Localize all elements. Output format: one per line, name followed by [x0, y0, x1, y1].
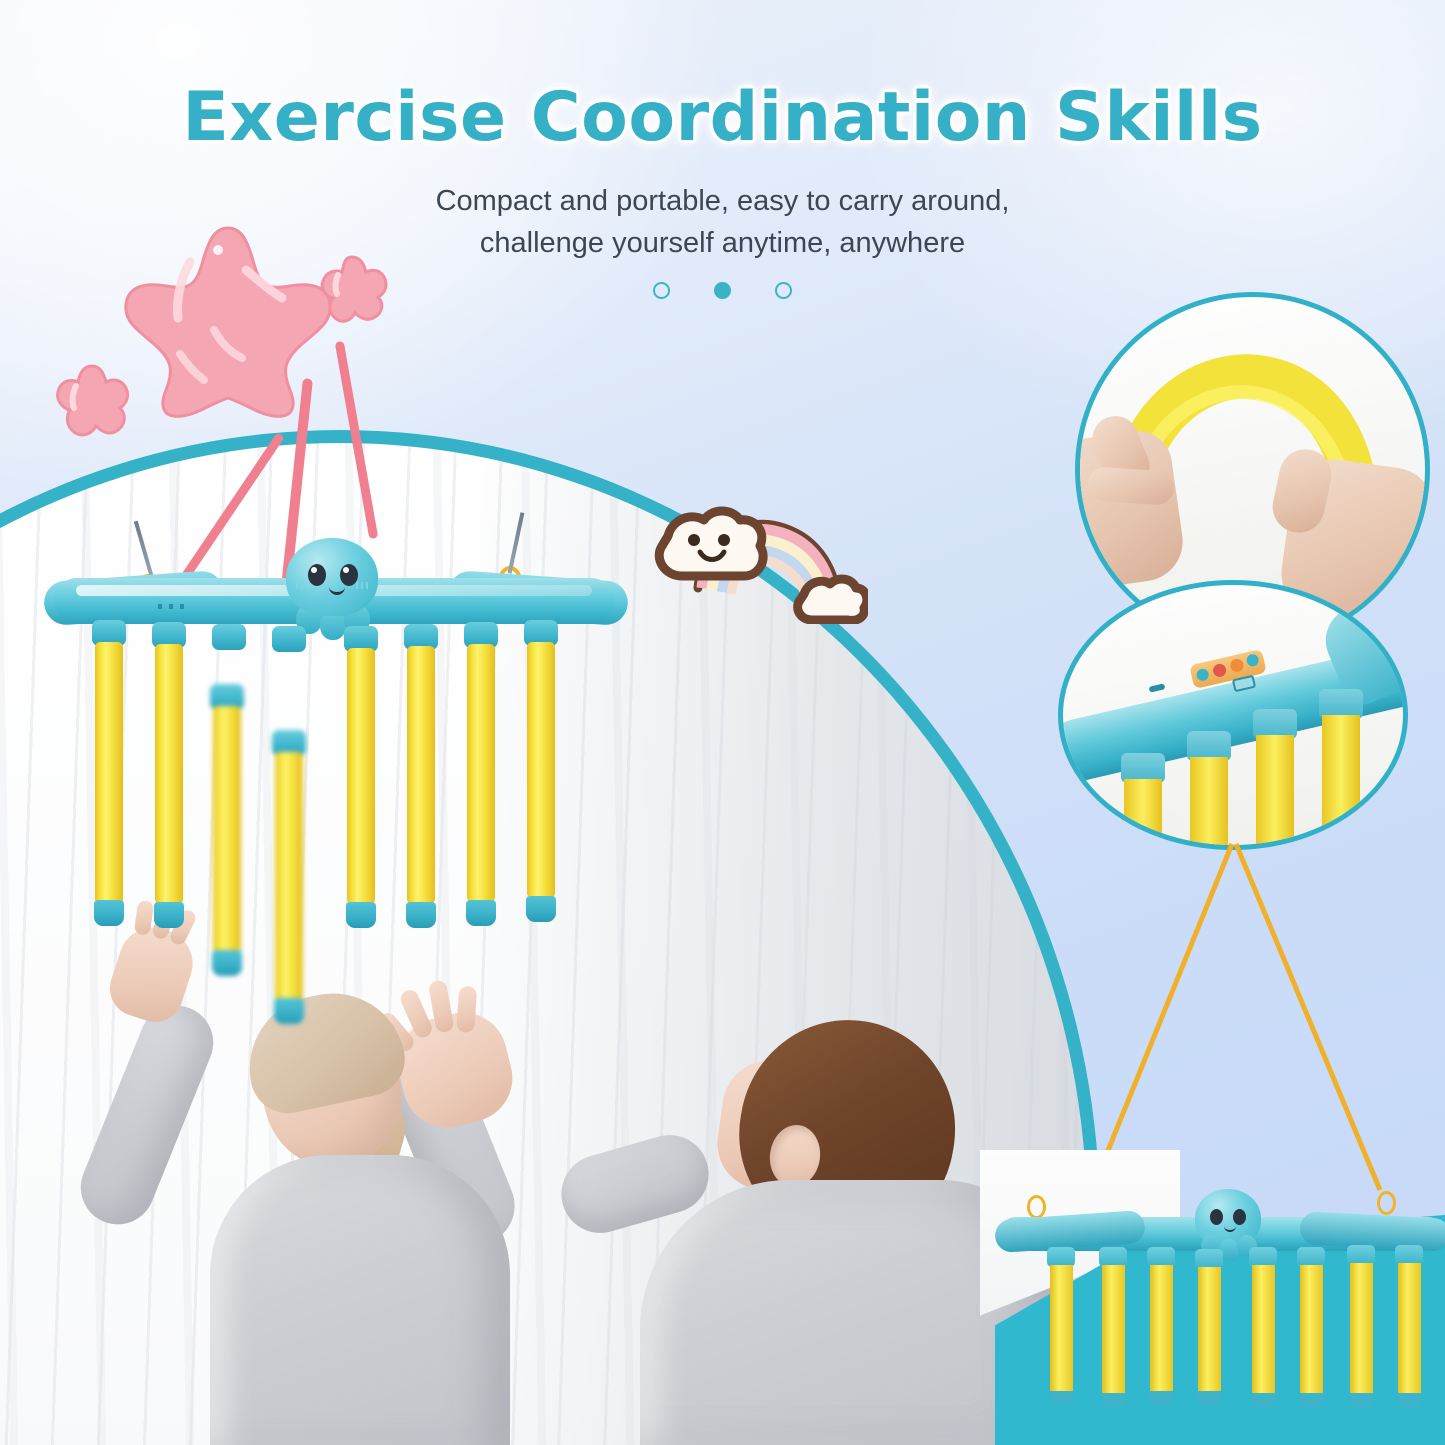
octopus-head	[286, 538, 378, 616]
carousel-dot-3[interactable]	[775, 282, 792, 299]
pink-flower-left-icon	[48, 360, 136, 444]
carousel-dot-2[interactable]	[714, 282, 731, 299]
bar-speaker-holes	[158, 604, 188, 609]
rainbow-cloud-icon	[628, 484, 868, 624]
carousel-dots[interactable]	[0, 282, 1445, 299]
subtitle-line-2: challenge yourself anytime, anywhere	[0, 222, 1445, 264]
main-product-octopus-toy	[46, 560, 626, 980]
subtitle-line-1: Compact and portable, easy to carry arou…	[0, 180, 1445, 222]
speaker-hole	[1149, 683, 1166, 692]
left-finger	[1087, 466, 1175, 506]
inset-control-panel	[1058, 580, 1408, 850]
bottom-product-octopus-toy	[995, 1195, 1445, 1445]
octopus-eye-left	[308, 564, 326, 586]
banner-stage: Exercise Coordination Skills Compact and…	[0, 0, 1445, 1445]
page-title: Exercise Coordination Skills	[0, 78, 1445, 157]
bottom-hook-ring-left	[1027, 1195, 1046, 1219]
page-subtitle: Compact and portable, easy to carry arou…	[0, 180, 1445, 264]
bottom-hook-ring-right	[1377, 1191, 1396, 1215]
girl-torso	[210, 1155, 510, 1445]
octopus-mouth	[329, 584, 345, 595]
octopus-blush-right	[356, 582, 370, 589]
octopus-blush-left	[296, 582, 310, 589]
carousel-dot-1[interactable]	[653, 282, 670, 299]
